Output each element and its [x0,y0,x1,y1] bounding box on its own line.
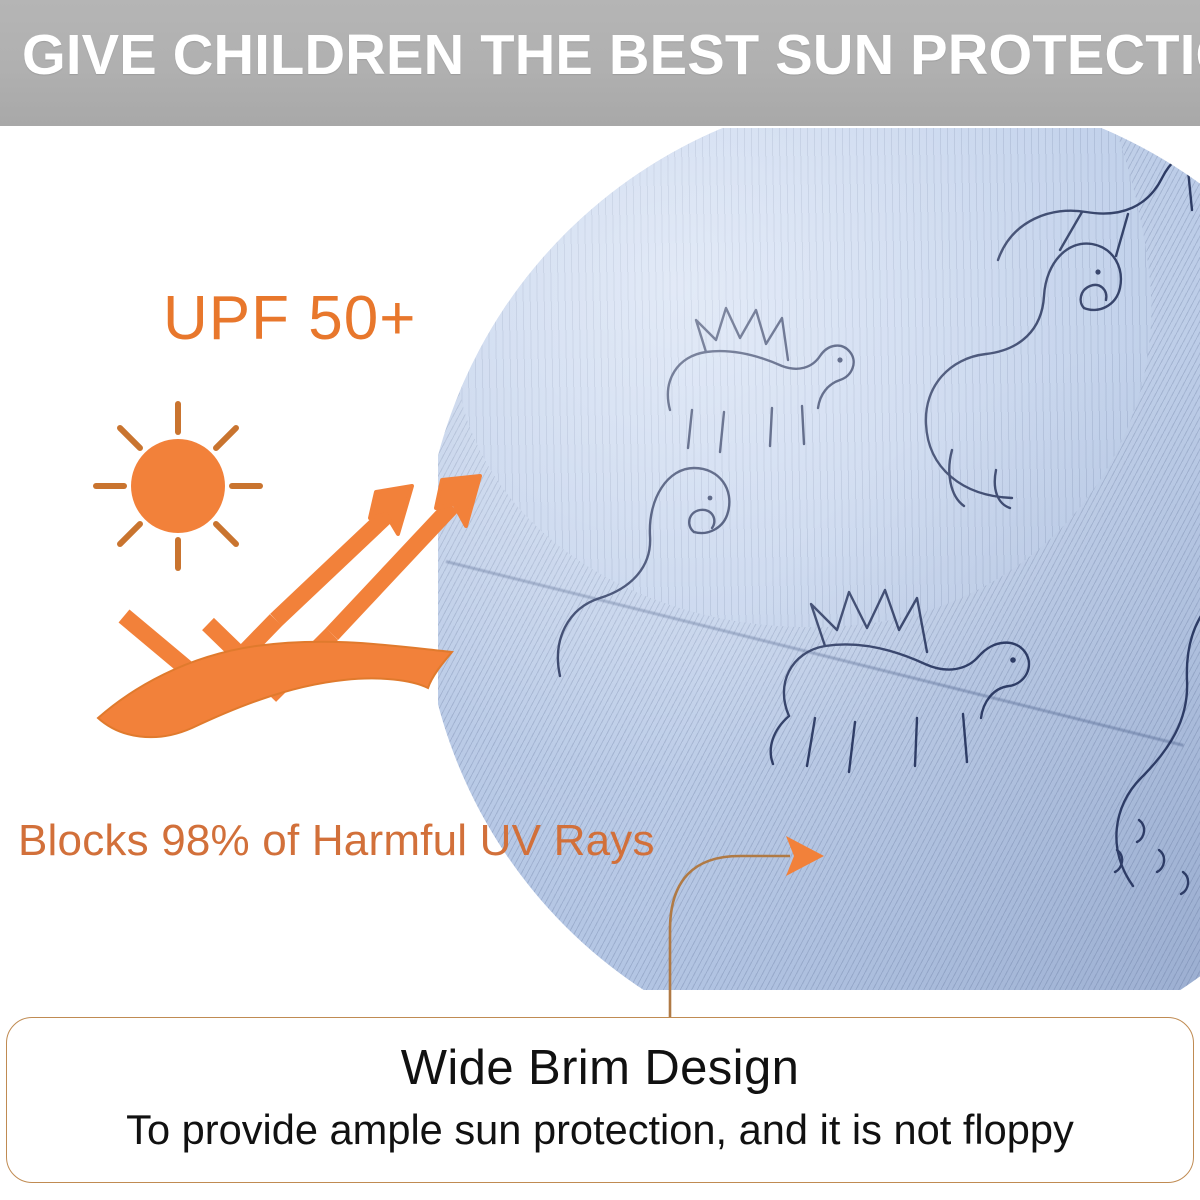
fabric-wave-icon [98,642,452,737]
header-banner: GIVE CHILDREN THE BEST SUN PROTECTION [0,0,1200,126]
uv-blocking-text: Blocks 98% of Harmful UV Rays [18,816,655,866]
uv-protection-icon [80,388,530,758]
callout-title: Wide Brim Design [7,1040,1193,1096]
upf-rating-label: UPF 50+ [163,283,416,354]
callout-subtitle: To provide ample sun protection, and it … [13,1106,1187,1154]
wide-brim-callout-box: Wide Brim Design To provide ample sun pr… [6,1017,1194,1183]
page-title: GIVE CHILDREN THE BEST SUN PROTECTION [22,20,1165,90]
infographic-page: GIVE CHILDREN THE BEST SUN PROTECTION [0,0,1200,1200]
sun-icon [96,404,260,568]
